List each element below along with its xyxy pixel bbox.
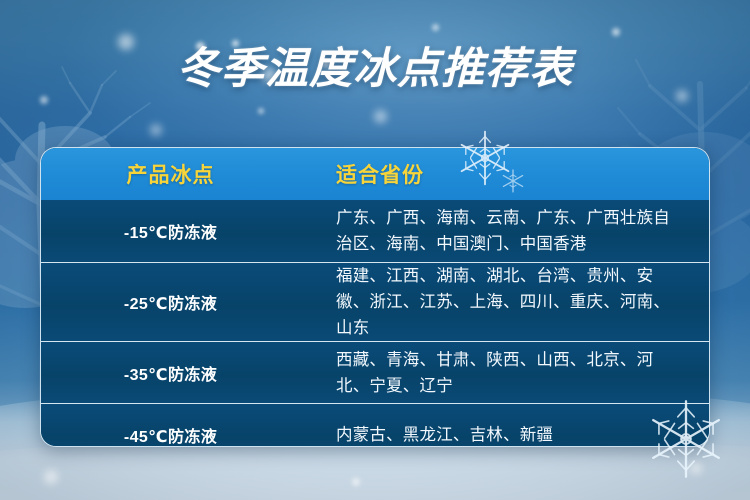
table-row: -15℃防冻液 广东、广西、海南、云南、广东、广西壮族自治区、海南、中国澳门、中… — [41, 200, 709, 262]
snow-ground-front — [0, 438, 750, 500]
table-row: -35℃防冻液 西藏、青海、甘肃、陕西、山西、北京、河北、宁夏、辽宁 — [41, 341, 709, 403]
cell-freezing-point: -45℃防冻液 — [41, 423, 296, 447]
recommendation-table: 产品冰点 适合省份 -15℃防冻液 广东、广西、海南、云南、广东、广西壮族自治区… — [40, 147, 710, 447]
cell-freezing-point: -15℃防冻液 — [41, 219, 296, 243]
table-body: -15℃防冻液 广东、广西、海南、云南、广东、广西壮族自治区、海南、中国澳门、中… — [41, 200, 709, 447]
cell-provinces: 西藏、青海、甘肃、陕西、山西、北京、河北、宁夏、辽宁 — [296, 347, 709, 399]
table-header-row: 产品冰点 适合省份 — [41, 148, 709, 200]
cell-provinces: 内蒙古、黑龙江、吉林、新疆 — [296, 422, 709, 448]
cell-freezing-point: -25℃防冻液 — [41, 290, 296, 314]
cell-provinces: 福建、江西、湖南、湖北、台湾、贵州、安徽、浙江、江苏、上海、四川、重庆、河南、山… — [296, 263, 709, 341]
table-row: -25℃防冻液 福建、江西、湖南、湖北、台湾、贵州、安徽、浙江、江苏、上海、四川… — [41, 262, 709, 341]
cell-freezing-point: -35℃防冻液 — [41, 361, 296, 385]
column-header-freezing-point: 产品冰点 — [41, 159, 296, 189]
page-title: 冬季温度冰点推荐表 — [0, 42, 750, 96]
cell-provinces: 广东、广西、海南、云南、广东、广西壮族自治区、海南、中国澳门、中国香港 — [296, 205, 709, 257]
table-row: -45℃防冻液 内蒙古、黑龙江、吉林、新疆 — [41, 403, 709, 447]
poster-canvas: 冬季温度冰点推荐表 产品冰点 适合省份 -15℃防冻液 广东、广西、海南、云南、… — [0, 0, 750, 500]
column-header-provinces: 适合省份 — [296, 159, 709, 189]
